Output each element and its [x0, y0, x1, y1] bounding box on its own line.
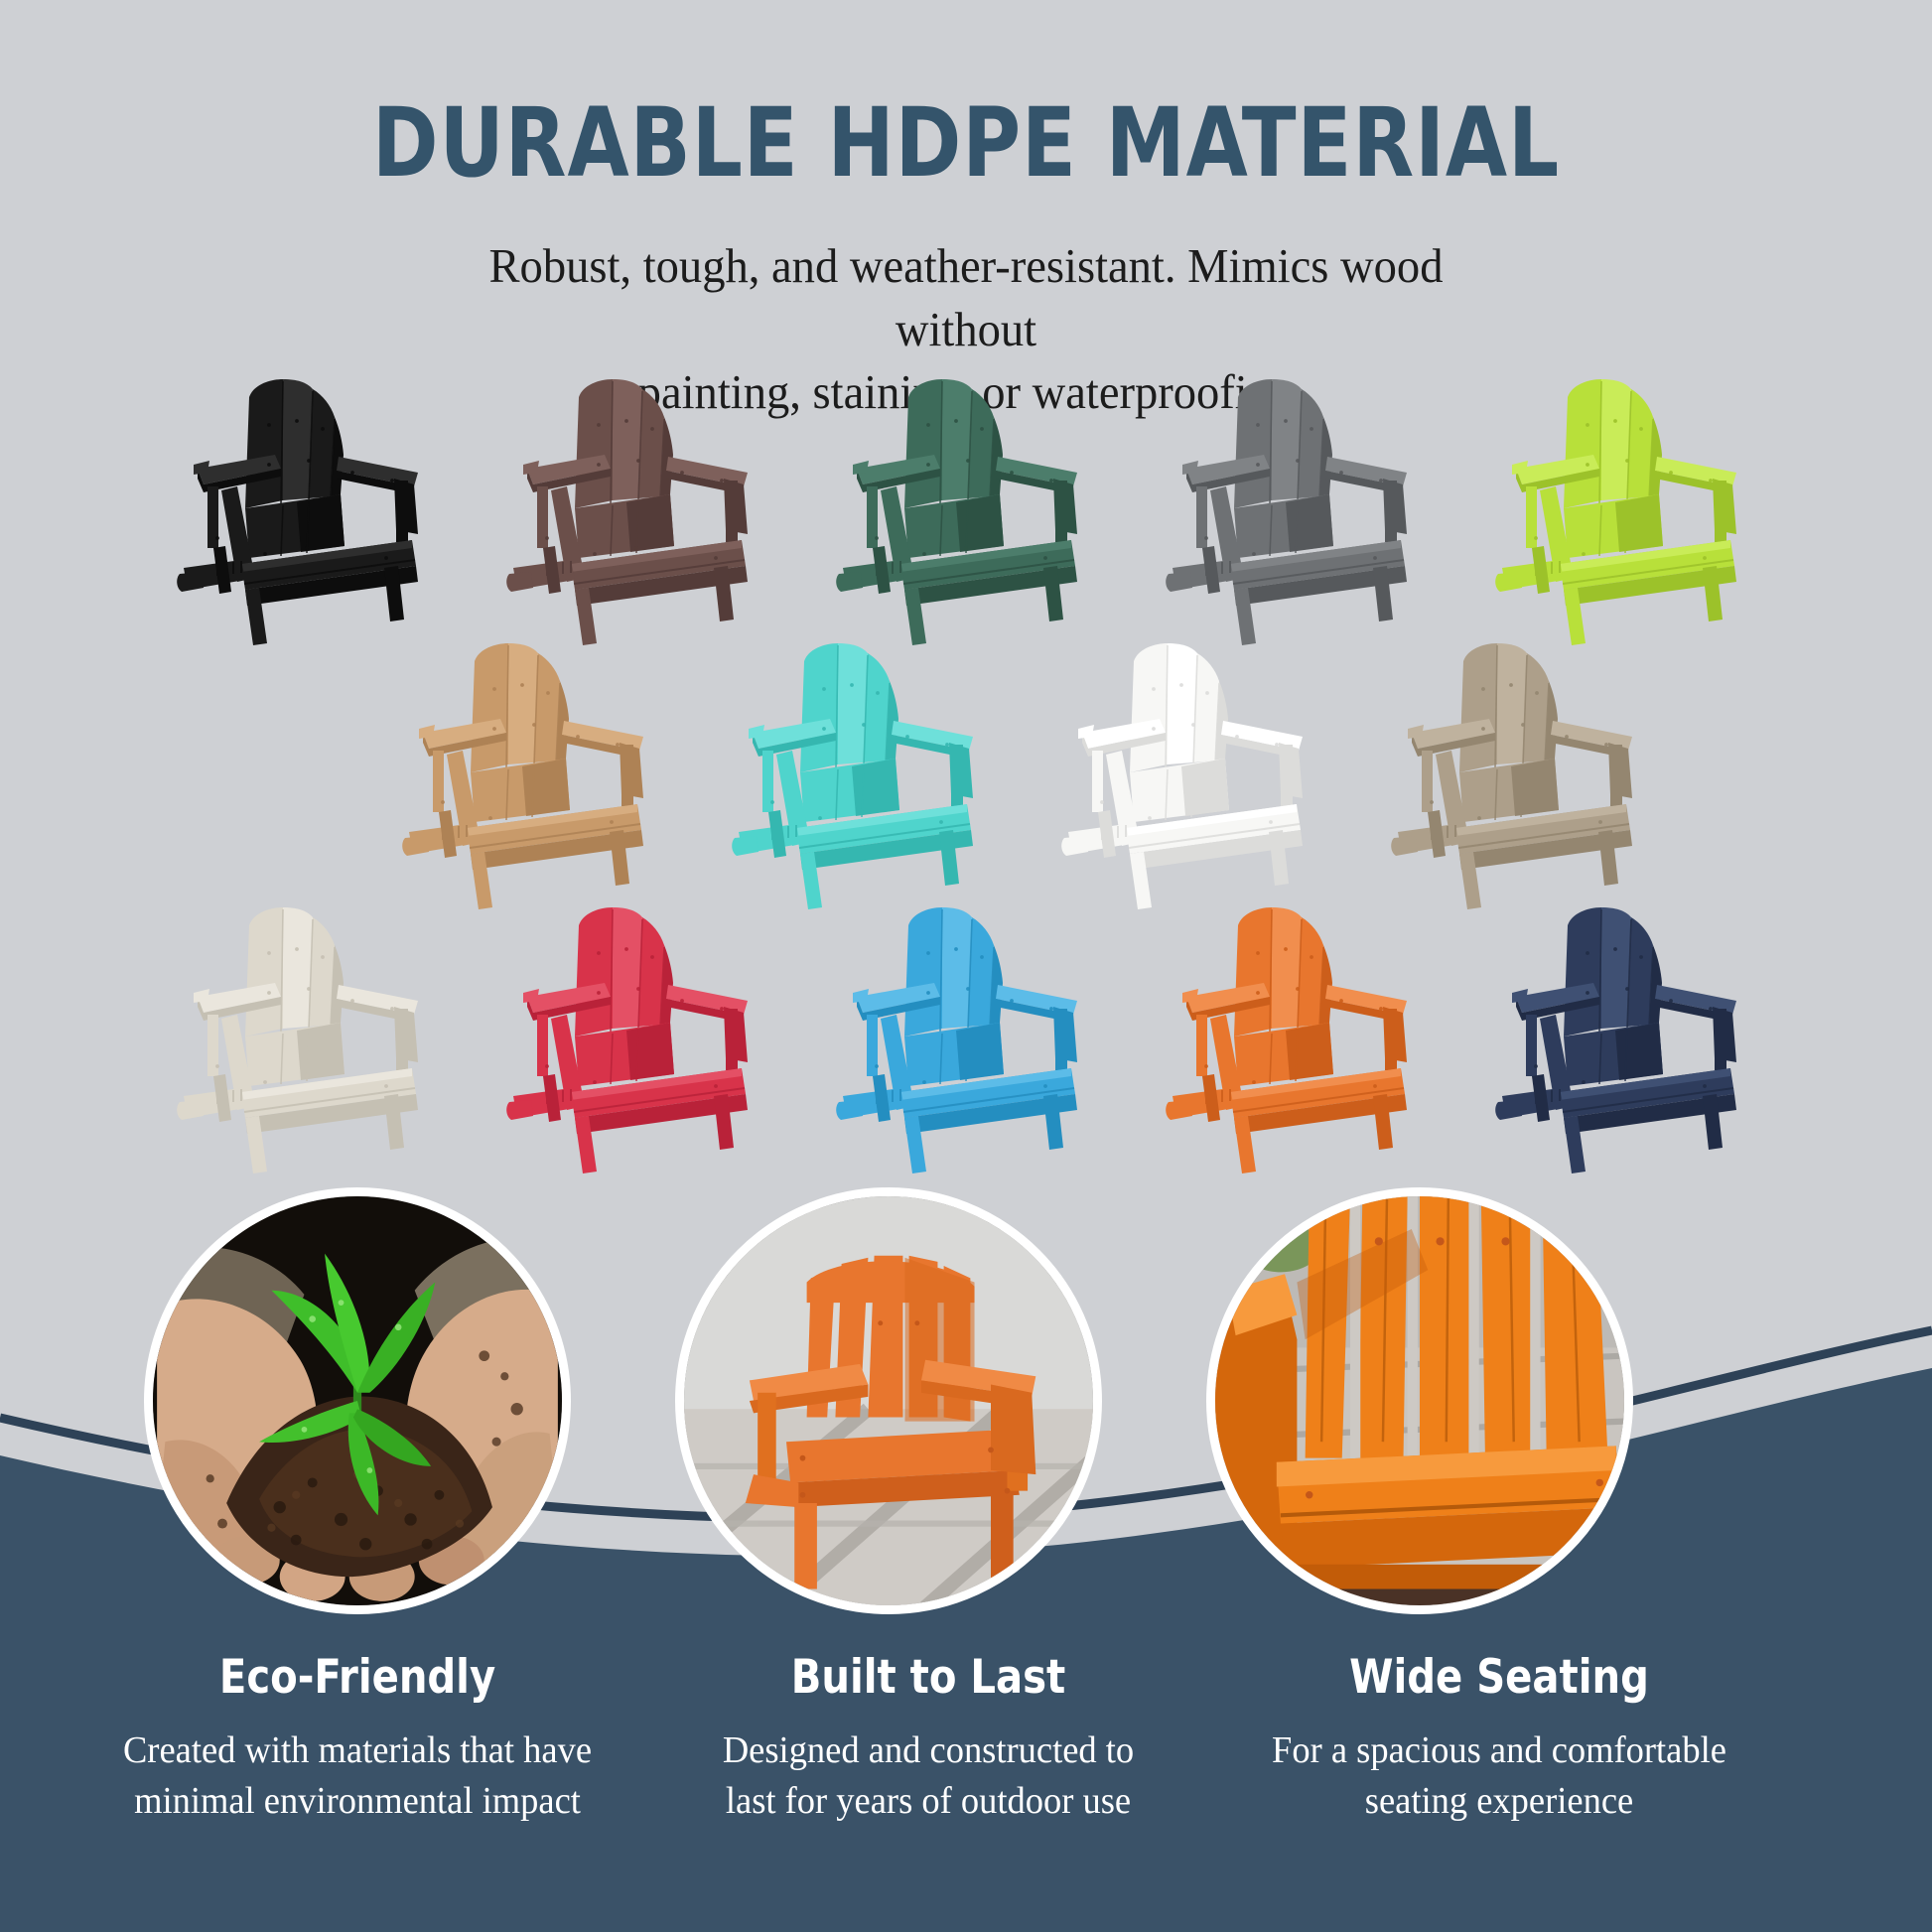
chair-swatch-khaki[interactable]: [1372, 633, 1670, 911]
adirondack-chair-gray: [1147, 369, 1445, 647]
built-to-last-photo-art: [684, 1196, 1093, 1605]
feature-title: Eco-Friendly: [93, 1652, 621, 1704]
feature-description-line-1: Designed and constructed to: [661, 1725, 1195, 1776]
adirondack-chair-ivory: [158, 897, 456, 1175]
adirondack-chair-orange: [1147, 897, 1445, 1175]
feature-description-line-1: Created with materials that have: [90, 1725, 624, 1776]
infographic-page: DURABLE HDPE MATERIAL Robust, tough, and…: [0, 0, 1932, 1932]
chair-row-3: [0, 897, 1932, 1175]
adirondack-chair-light-blue: [817, 897, 1115, 1175]
header: DURABLE HDPE MATERIAL Robust, tough, and…: [0, 0, 1932, 424]
feature-description: Designed and constructed to last for yea…: [661, 1725, 1195, 1827]
adirondack-chair-dark-green: [817, 369, 1115, 647]
feature-description-line-2: seating experience: [1232, 1776, 1766, 1827]
adirondack-chair-teak-tan: [383, 633, 681, 911]
feature-description: Created with materials that have minimal…: [90, 1725, 624, 1827]
feature-title: Wide Seating: [1235, 1652, 1763, 1704]
adirondack-chair-red: [487, 897, 785, 1175]
built-to-last-photo: [675, 1187, 1102, 1614]
chair-swatch-brown[interactable]: [487, 369, 785, 647]
feature-built-to-last: Built to Last Designed and constructed t…: [650, 1652, 1206, 1827]
adirondack-chair-turquoise: [713, 633, 1011, 911]
feature-wide-seating: Wide Seating For a spacious and comforta…: [1221, 1652, 1777, 1827]
feature-eco-friendly: Eco-Friendly Created with materials that…: [79, 1652, 635, 1827]
chair-color-grid: [0, 369, 1932, 1175]
page-title: DURABLE HDPE MATERIAL: [68, 95, 1864, 191]
adirondack-chair-brown: [487, 369, 785, 647]
feature-description-line-2: last for years of outdoor use: [661, 1776, 1195, 1827]
chair-swatch-teak-tan[interactable]: [383, 633, 681, 911]
adirondack-chair-white: [1042, 633, 1340, 911]
chair-swatch-dark-green[interactable]: [817, 369, 1115, 647]
adirondack-chair-navy-blue: [1476, 897, 1774, 1175]
chair-swatch-white[interactable]: [1042, 633, 1340, 911]
wide-seating-photo-art: [1215, 1196, 1624, 1605]
feature-description-line-2: minimal environmental impact: [90, 1776, 624, 1827]
eco-friendly-photo: [144, 1187, 571, 1614]
adirondack-chair-khaki: [1372, 633, 1670, 911]
feature-text-row: Eco-Friendly Created with materials that…: [0, 1652, 1932, 1827]
feature-photo-row: [0, 1187, 1932, 1624]
chair-swatch-orange[interactable]: [1147, 897, 1445, 1175]
chair-swatch-lime-green[interactable]: [1476, 369, 1774, 647]
page-subtitle-line-1: Robust, tough, and weather-resistant. Mi…: [438, 234, 1494, 360]
chair-swatch-light-blue[interactable]: [817, 897, 1115, 1175]
eco-friendly-photo-art: [153, 1196, 562, 1605]
chair-swatch-navy-blue[interactable]: [1476, 897, 1774, 1175]
chair-swatch-turquoise[interactable]: [713, 633, 1011, 911]
chair-row-1: [0, 369, 1932, 647]
chair-swatch-ivory[interactable]: [158, 897, 456, 1175]
chair-swatch-black[interactable]: [158, 369, 456, 647]
chair-row-2: [121, 633, 1932, 911]
adirondack-chair-black: [158, 369, 456, 647]
chair-swatch-gray[interactable]: [1147, 369, 1445, 647]
feature-description-line-1: For a spacious and comfortable: [1232, 1725, 1766, 1776]
wide-seating-photo: [1206, 1187, 1633, 1614]
feature-description: For a spacious and comfortable seating e…: [1232, 1725, 1766, 1827]
feature-title: Built to Last: [664, 1652, 1192, 1704]
chair-swatch-red[interactable]: [487, 897, 785, 1175]
adirondack-chair-lime-green: [1476, 369, 1774, 647]
